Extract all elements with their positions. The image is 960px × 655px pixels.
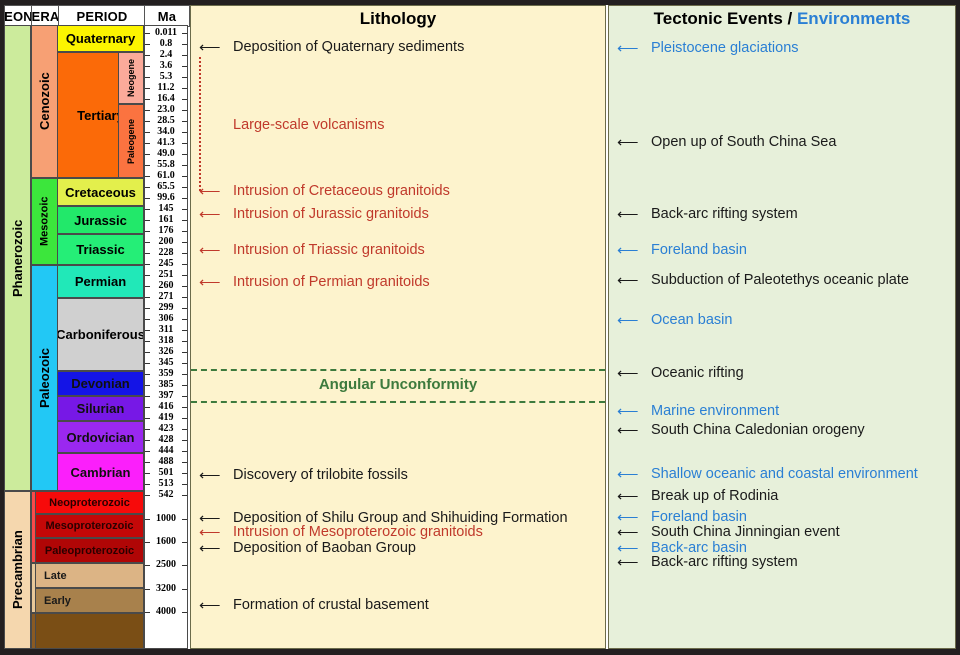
- period-label: Devonian: [71, 376, 130, 391]
- left-arrow-icon: ⟵: [617, 404, 651, 419]
- tectonic-title-separator: /: [783, 9, 797, 28]
- period-cell-early: Early: [35, 588, 144, 613]
- ma-value: 41.3: [145, 138, 187, 148]
- period-label: Cambrian: [71, 465, 131, 480]
- left-arrow-icon: ⟵: [199, 184, 233, 199]
- frame-bottom-border: [0, 649, 960, 655]
- tectonic-event: ⟵Marine environment: [617, 404, 779, 419]
- ma-value: 65.5: [145, 182, 187, 192]
- unconformity-label: Angular Unconformity: [191, 376, 605, 393]
- column-header-eon: EON: [4, 5, 33, 27]
- ma-value: 326: [145, 347, 187, 357]
- ma-value: 488: [145, 457, 187, 467]
- eon-cell-phanerozoic: Phanerozoic: [4, 25, 31, 491]
- ma-value: 11.2: [145, 83, 187, 93]
- period-label: Triassic: [76, 242, 124, 257]
- period-cell-cambrian: Cambrian: [57, 453, 144, 491]
- unconformity-line-bottom: [191, 401, 605, 403]
- tectonic-event-label: Break up of Rodinia: [651, 489, 778, 504]
- lithology-event: ⟵Deposition of Baoban Group: [199, 541, 416, 556]
- ma-value: 345: [145, 358, 187, 368]
- period-label: Mesoproterozoic: [45, 520, 133, 532]
- ma-value: 23.0: [145, 105, 187, 115]
- ma-value: 228: [145, 248, 187, 258]
- ma-value: 245: [145, 259, 187, 269]
- period-label: Paleoproterozoic: [45, 545, 134, 557]
- period-cell-quaternary: Quaternary: [57, 25, 144, 52]
- frame-right-border: [956, 0, 960, 655]
- lithology-event: ⟵Formation of crustal basement: [199, 598, 429, 613]
- ma-value: 513: [145, 479, 187, 489]
- era-label: Mesozoic: [39, 197, 51, 247]
- lithology-event: ⟵Intrusion of Permian granitoids: [199, 275, 430, 290]
- ma-value: 260: [145, 281, 187, 291]
- ma-value: 161: [145, 215, 187, 225]
- period-label: Early: [44, 595, 71, 607]
- lithology-event-label: Formation of crustal basement: [233, 598, 429, 613]
- left-arrow-icon: ⟵: [617, 366, 651, 381]
- ma-value: 271: [145, 292, 187, 302]
- period-label: Tertiary: [77, 108, 124, 123]
- period-cell-triassic: Triassic: [57, 234, 144, 265]
- ma-value: 3200: [145, 584, 187, 594]
- lithology-panel: Lithology Angular Unconformity ⟵Depositi…: [190, 5, 606, 649]
- column-header-period: PERIOD: [58, 5, 146, 27]
- subperiod-label: Paleogene: [126, 118, 136, 163]
- period-label: Neoproterozoic: [49, 497, 130, 509]
- ma-value: 0.8: [145, 39, 187, 49]
- ma-value: 385: [145, 380, 187, 390]
- tectonic-event: ⟵South China Caledonian orogeny: [617, 423, 865, 438]
- tectonic-event-label: Shallow oceanic and coastal environment: [651, 467, 918, 482]
- period-label: Quaternary: [66, 31, 135, 46]
- period-cell-permian: Permian: [57, 265, 144, 298]
- subperiod-cell-neogene: Neogene: [118, 52, 144, 104]
- tectonic-event: ⟵Open up of South China Sea: [617, 135, 836, 150]
- period-cell-ordovician: Ordovician: [57, 421, 144, 453]
- tectonic-events-panel: Tectonic Events / Environments ⟵Pleistoc…: [608, 5, 956, 649]
- column-header-era: ERA: [31, 5, 60, 27]
- tectonic-event-label: Back-arc rifting system: [651, 555, 798, 570]
- era-label: Cenozoic: [37, 73, 52, 131]
- lithology-event-label: Large-scale volcanisms: [233, 118, 385, 133]
- period-cell-late: Late: [35, 563, 144, 588]
- tectonic-event-label: Pleistocene glaciations: [651, 41, 799, 56]
- tectonic-event-label: Ocean basin: [651, 313, 732, 328]
- left-arrow-icon: ⟵: [617, 135, 651, 150]
- lithology-event-label: Intrusion of Jurassic granitoids: [233, 207, 429, 222]
- ma-value: 423: [145, 424, 187, 434]
- ma-value: 200: [145, 237, 187, 247]
- lithology-event-label: Deposition of Baoban Group: [233, 541, 416, 556]
- ma-value: 61.0: [145, 171, 187, 181]
- tectonic-event: ⟵Oceanic rifting: [617, 366, 744, 381]
- ma-value: 2500: [145, 560, 187, 570]
- period-label: Jurassic: [74, 213, 127, 228]
- tectonic-event: ⟵Pleistocene glaciations: [617, 41, 799, 56]
- ma-value: 176: [145, 226, 187, 236]
- period-cell-unnamed: [35, 613, 144, 649]
- era-cell-mesozoic: Mesozoic: [31, 178, 58, 265]
- ma-value: 311: [145, 325, 187, 335]
- tectonic-event-label: Oceanic rifting: [651, 366, 744, 381]
- left-arrow-icon: ⟵: [617, 510, 651, 525]
- lithology-event: ⟵Discovery of trilobite fossils: [199, 468, 408, 483]
- ma-scale-column: 0.0110.82.43.65.311.216.423.028.534.041.…: [144, 25, 188, 649]
- lithology-event: Large-scale volcanisms: [199, 118, 385, 133]
- ma-value: 428: [145, 435, 187, 445]
- lithology-event: ⟵Deposition of Quaternary sediments: [199, 40, 464, 55]
- tectonic-event: ⟵Break up of Rodinia: [617, 489, 778, 504]
- tectonic-event-label: Foreland basin: [651, 510, 747, 525]
- left-arrow-icon: ⟵: [617, 525, 651, 540]
- period-cell-carboniferous: Carboniferous: [57, 298, 144, 371]
- left-arrow-icon: ⟵: [199, 541, 233, 556]
- ma-value: 99.6: [145, 193, 187, 203]
- lithology-title: Lithology: [191, 9, 605, 29]
- ma-value: 542: [145, 490, 187, 500]
- left-arrow-icon: ⟵: [617, 423, 651, 438]
- period-label: Cretaceous: [65, 185, 136, 200]
- ma-value: 34.0: [145, 127, 187, 137]
- left-arrow-icon: ⟵: [199, 598, 233, 613]
- tectonic-event-label: Marine environment: [651, 404, 779, 419]
- tectonic-event-label: South China Caledonian orogeny: [651, 423, 865, 438]
- ma-value: 397: [145, 391, 187, 401]
- ma-value: 145: [145, 204, 187, 214]
- ma-value: 55.8: [145, 160, 187, 170]
- lithology-event-label: Intrusion of Triassic granitoids: [233, 243, 425, 258]
- period-label: Carboniferous: [57, 327, 144, 342]
- ma-value: 251: [145, 270, 187, 280]
- ma-value: 318: [145, 336, 187, 346]
- left-arrow-icon: ⟵: [199, 525, 233, 540]
- period-cell-cretaceous: Cretaceous: [57, 178, 144, 206]
- tectonic-event: ⟵Foreland basin: [617, 243, 747, 258]
- left-arrow-icon: ⟵: [199, 40, 233, 55]
- tectonic-event-label: Subduction of Paleotethys oceanic plate: [651, 273, 909, 288]
- subperiod-cell-paleogene: Paleogene: [118, 104, 144, 178]
- period-cell-silurian: Silurian: [57, 396, 144, 421]
- ma-value: 4000: [145, 607, 187, 617]
- left-arrow-icon: ⟵: [617, 313, 651, 328]
- period-cell-mesoproterozoic: Mesoproterozoic: [35, 514, 144, 538]
- ma-value: 1600: [145, 537, 187, 547]
- lithology-event-label: Discovery of trilobite fossils: [233, 468, 408, 483]
- ma-value: 49.0: [145, 149, 187, 159]
- era-label: Paleozoic: [37, 348, 52, 408]
- lithology-event: ⟵Intrusion of Cretaceous granitoids: [199, 184, 450, 199]
- period-cell-jurassic: Jurassic: [57, 206, 144, 234]
- left-arrow-icon: ⟵: [199, 207, 233, 222]
- tectonic-event: ⟵Back-arc rifting system: [617, 555, 798, 570]
- lithology-event-label: Intrusion of Permian granitoids: [233, 275, 430, 290]
- period-cell-devonian: Devonian: [57, 371, 144, 396]
- tectonic-event: ⟵Shallow oceanic and coastal environment: [617, 467, 918, 482]
- left-arrow-icon: ⟵: [617, 555, 651, 570]
- period-label: Permian: [75, 274, 126, 289]
- lithology-event: ⟵Intrusion of Mesoproterozoic granitoids: [199, 525, 483, 540]
- ma-value: 306: [145, 314, 187, 324]
- ma-value: 419: [145, 413, 187, 423]
- ma-value: 28.5: [145, 116, 187, 126]
- subperiod-label: Neogene: [126, 59, 136, 97]
- tectonic-event: ⟵South China Jinningian event: [617, 525, 840, 540]
- column-header-ma: Ma: [144, 5, 190, 27]
- ma-value: 5.3: [145, 72, 187, 82]
- ma-value: 444: [145, 446, 187, 456]
- tectonic-title-main: Tectonic Events: [654, 9, 783, 28]
- tectonic-event: ⟵Ocean basin: [617, 313, 732, 328]
- ma-value: 1000: [145, 514, 187, 524]
- left-arrow-icon: ⟵: [617, 489, 651, 504]
- left-arrow-icon: ⟵: [617, 207, 651, 222]
- period-cell-paleoproterozoic: Paleoproterozoic: [35, 538, 144, 563]
- tectonic-event-label: Foreland basin: [651, 243, 747, 258]
- ma-value: 0.011: [145, 28, 187, 38]
- ma-value: 299: [145, 303, 187, 313]
- tectonic-title: Tectonic Events / Environments: [609, 9, 955, 29]
- left-arrow-icon: ⟵: [617, 243, 651, 258]
- period-label: Ordovician: [67, 430, 135, 445]
- ma-value: 501: [145, 468, 187, 478]
- left-arrow-icon: ⟵: [617, 273, 651, 288]
- lithology-event-label: Intrusion of Mesoproterozoic granitoids: [233, 525, 483, 540]
- period-cell-neoproterozoic: Neoproterozoic: [35, 491, 144, 514]
- lithology-event-label: Intrusion of Cretaceous granitoids: [233, 184, 450, 199]
- tectonic-event-label: Open up of South China Sea: [651, 135, 836, 150]
- eon-cell-precambrian: Precambrian: [4, 491, 31, 649]
- tectonic-event-label: South China Jinningian event: [651, 525, 840, 540]
- eon-label: Phanerozoic: [10, 219, 25, 296]
- period-label: Late: [44, 570, 67, 582]
- geologic-time-scale-figure: EON ERA PERIOD Ma PhanerozoicPrecambrian…: [0, 0, 960, 655]
- left-arrow-icon: ⟵: [199, 275, 233, 290]
- era-cell-paleozoic: Paleozoic: [31, 265, 58, 491]
- era-cell-cenozoic: Cenozoic: [31, 25, 58, 178]
- ma-value: 416: [145, 402, 187, 412]
- left-arrow-icon: ⟵: [617, 41, 651, 56]
- ma-value: 359: [145, 369, 187, 379]
- left-arrow-icon: ⟵: [199, 243, 233, 258]
- period-label: Silurian: [77, 401, 125, 416]
- unconformity-line-top: [191, 369, 605, 371]
- lithology-event-label: Deposition of Quaternary sediments: [233, 40, 464, 55]
- tectonic-title-environments: Environments: [797, 9, 910, 28]
- ma-value: 3.6: [145, 61, 187, 71]
- lithology-event: ⟵Intrusion of Jurassic granitoids: [199, 207, 429, 222]
- ma-value: 16.4: [145, 94, 187, 104]
- tectonic-event-label: Back-arc rifting system: [651, 207, 798, 222]
- ma-value: 2.4: [145, 50, 187, 60]
- tectonic-event: ⟵Subduction of Paleotethys oceanic plate: [617, 273, 909, 288]
- left-arrow-icon: ⟵: [199, 468, 233, 483]
- tectonic-event: ⟵Back-arc rifting system: [617, 207, 798, 222]
- lithology-event: ⟵Intrusion of Triassic granitoids: [199, 243, 425, 258]
- left-arrow-icon: ⟵: [617, 467, 651, 482]
- eon-label: Precambrian: [10, 531, 25, 610]
- tectonic-event: ⟵Foreland basin: [617, 510, 747, 525]
